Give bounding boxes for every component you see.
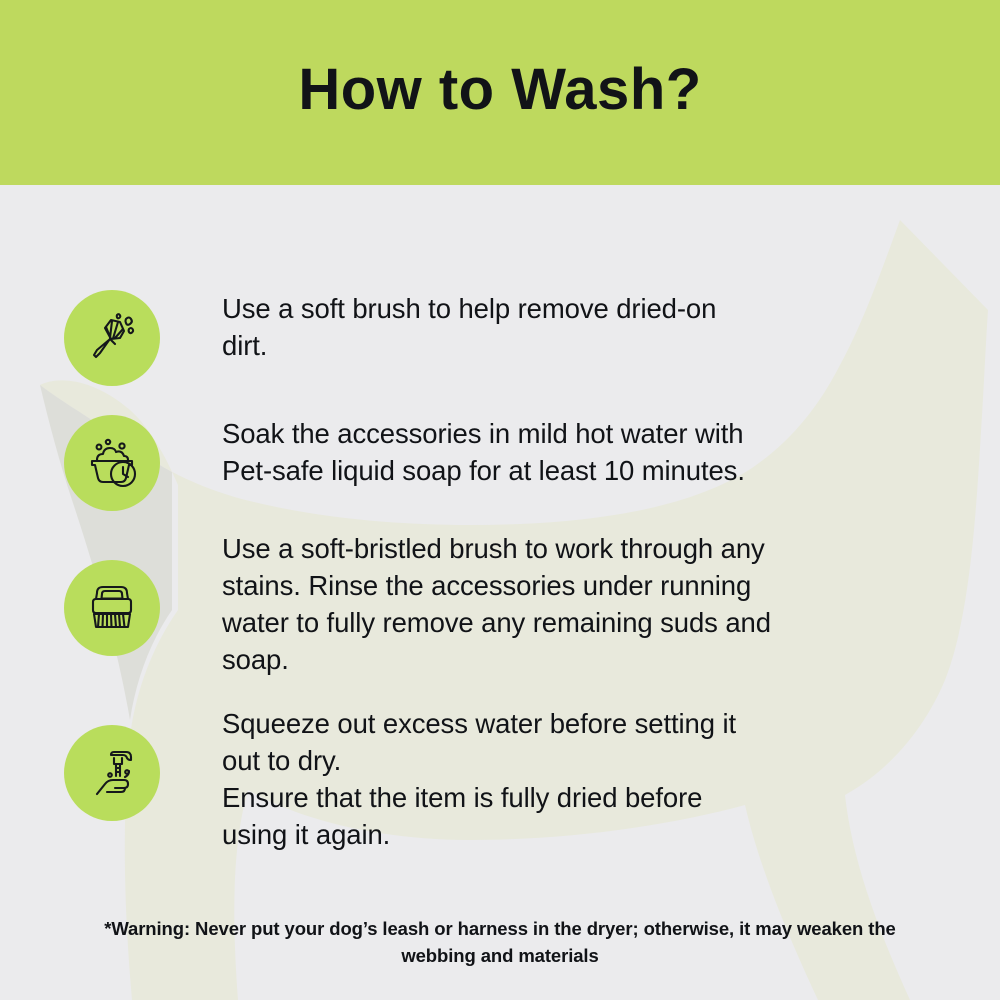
step-icon-3-circle <box>64 560 160 656</box>
step-line: Ensure that the item is fully dried befo… <box>222 779 922 816</box>
step-icon-1-circle <box>64 290 160 386</box>
how-to-wash-infographic: How to Wash? <box>0 0 1000 1000</box>
step-line: Pet-safe liquid soap for at least 10 min… <box>222 452 922 489</box>
step-line: Use a soft brush to help remove dried-on <box>222 290 922 327</box>
step-icon-2-circle <box>64 415 160 511</box>
warning-note: *Warning: Never put your dog’s leash or … <box>0 915 1000 969</box>
step-text-3: Use a soft-bristled brush to work throug… <box>222 530 922 678</box>
step-line: water to fully remove any remaining suds… <box>222 604 922 641</box>
feather-duster-icon <box>82 308 142 368</box>
step-line: Soak the accessories in mild hot water w… <box>222 415 922 452</box>
warning-line: webbing and materials <box>0 942 1000 969</box>
step-text-1: Use a soft brush to help remove dried-on… <box>222 290 922 364</box>
step-text-4: Squeeze out excess water before setting … <box>222 705 922 853</box>
warning-line: *Warning: Never put your dog’s leash or … <box>0 915 1000 942</box>
step-line: soap. <box>222 641 922 678</box>
step-line: Use a soft-bristled brush to work throug… <box>222 530 922 567</box>
step-icon-4-circle <box>64 725 160 821</box>
scrub-brush-icon <box>81 577 143 639</box>
step-line: Squeeze out excess water before setting … <box>222 705 922 742</box>
step-line: stains. Rinse the accessories under runn… <box>222 567 922 604</box>
step-line: using it again. <box>222 816 922 853</box>
step-text-2: Soak the accessories in mild hot water w… <box>222 415 922 489</box>
page-title: How to Wash? <box>298 61 701 125</box>
soaking-tub-timer-icon <box>81 432 143 494</box>
step-line: out to dry. <box>222 742 922 779</box>
header-banner: How to Wash? <box>0 0 1000 185</box>
hand-under-faucet-icon <box>81 742 143 804</box>
step-line: dirt. <box>222 327 922 364</box>
